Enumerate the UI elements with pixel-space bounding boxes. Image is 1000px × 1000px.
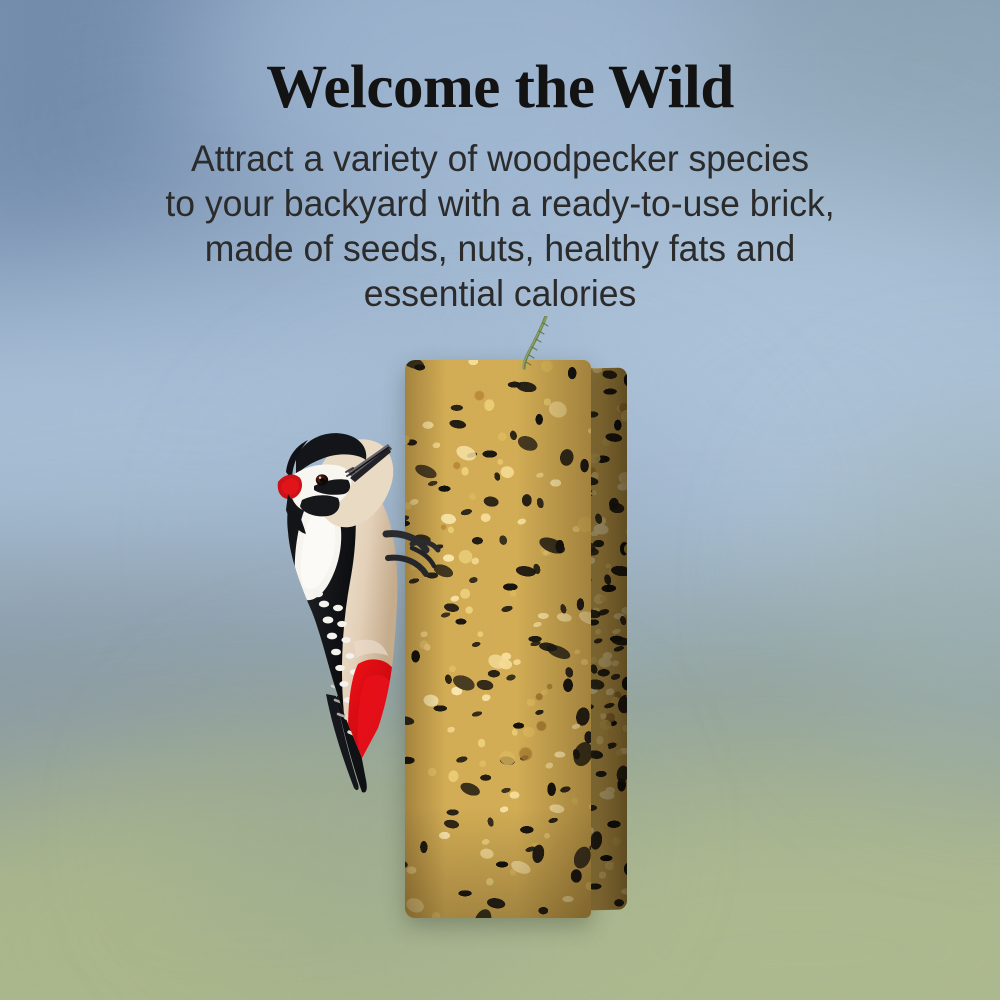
page-title: Welcome the Wild (0, 56, 1000, 120)
subtitle-line-3: made of seeds, nuts, healthy fats and (20, 226, 980, 271)
subtitle-line-4: essential calories (20, 271, 980, 316)
subtitle-line-2: to your backyard with a ready-to-use bri… (20, 181, 980, 226)
product-scene: Welcome the Wild Attract a variety of wo… (0, 0, 1000, 1000)
marketing-copy: Welcome the Wild Attract a variety of wo… (0, 56, 1000, 316)
woodpecker-icon (262, 428, 462, 808)
page-subtitle: Attract a variety of woodpecker species … (20, 136, 980, 316)
wire-hanger-icon (400, 316, 640, 386)
subtitle-line-1: Attract a variety of woodpecker species (20, 136, 980, 181)
